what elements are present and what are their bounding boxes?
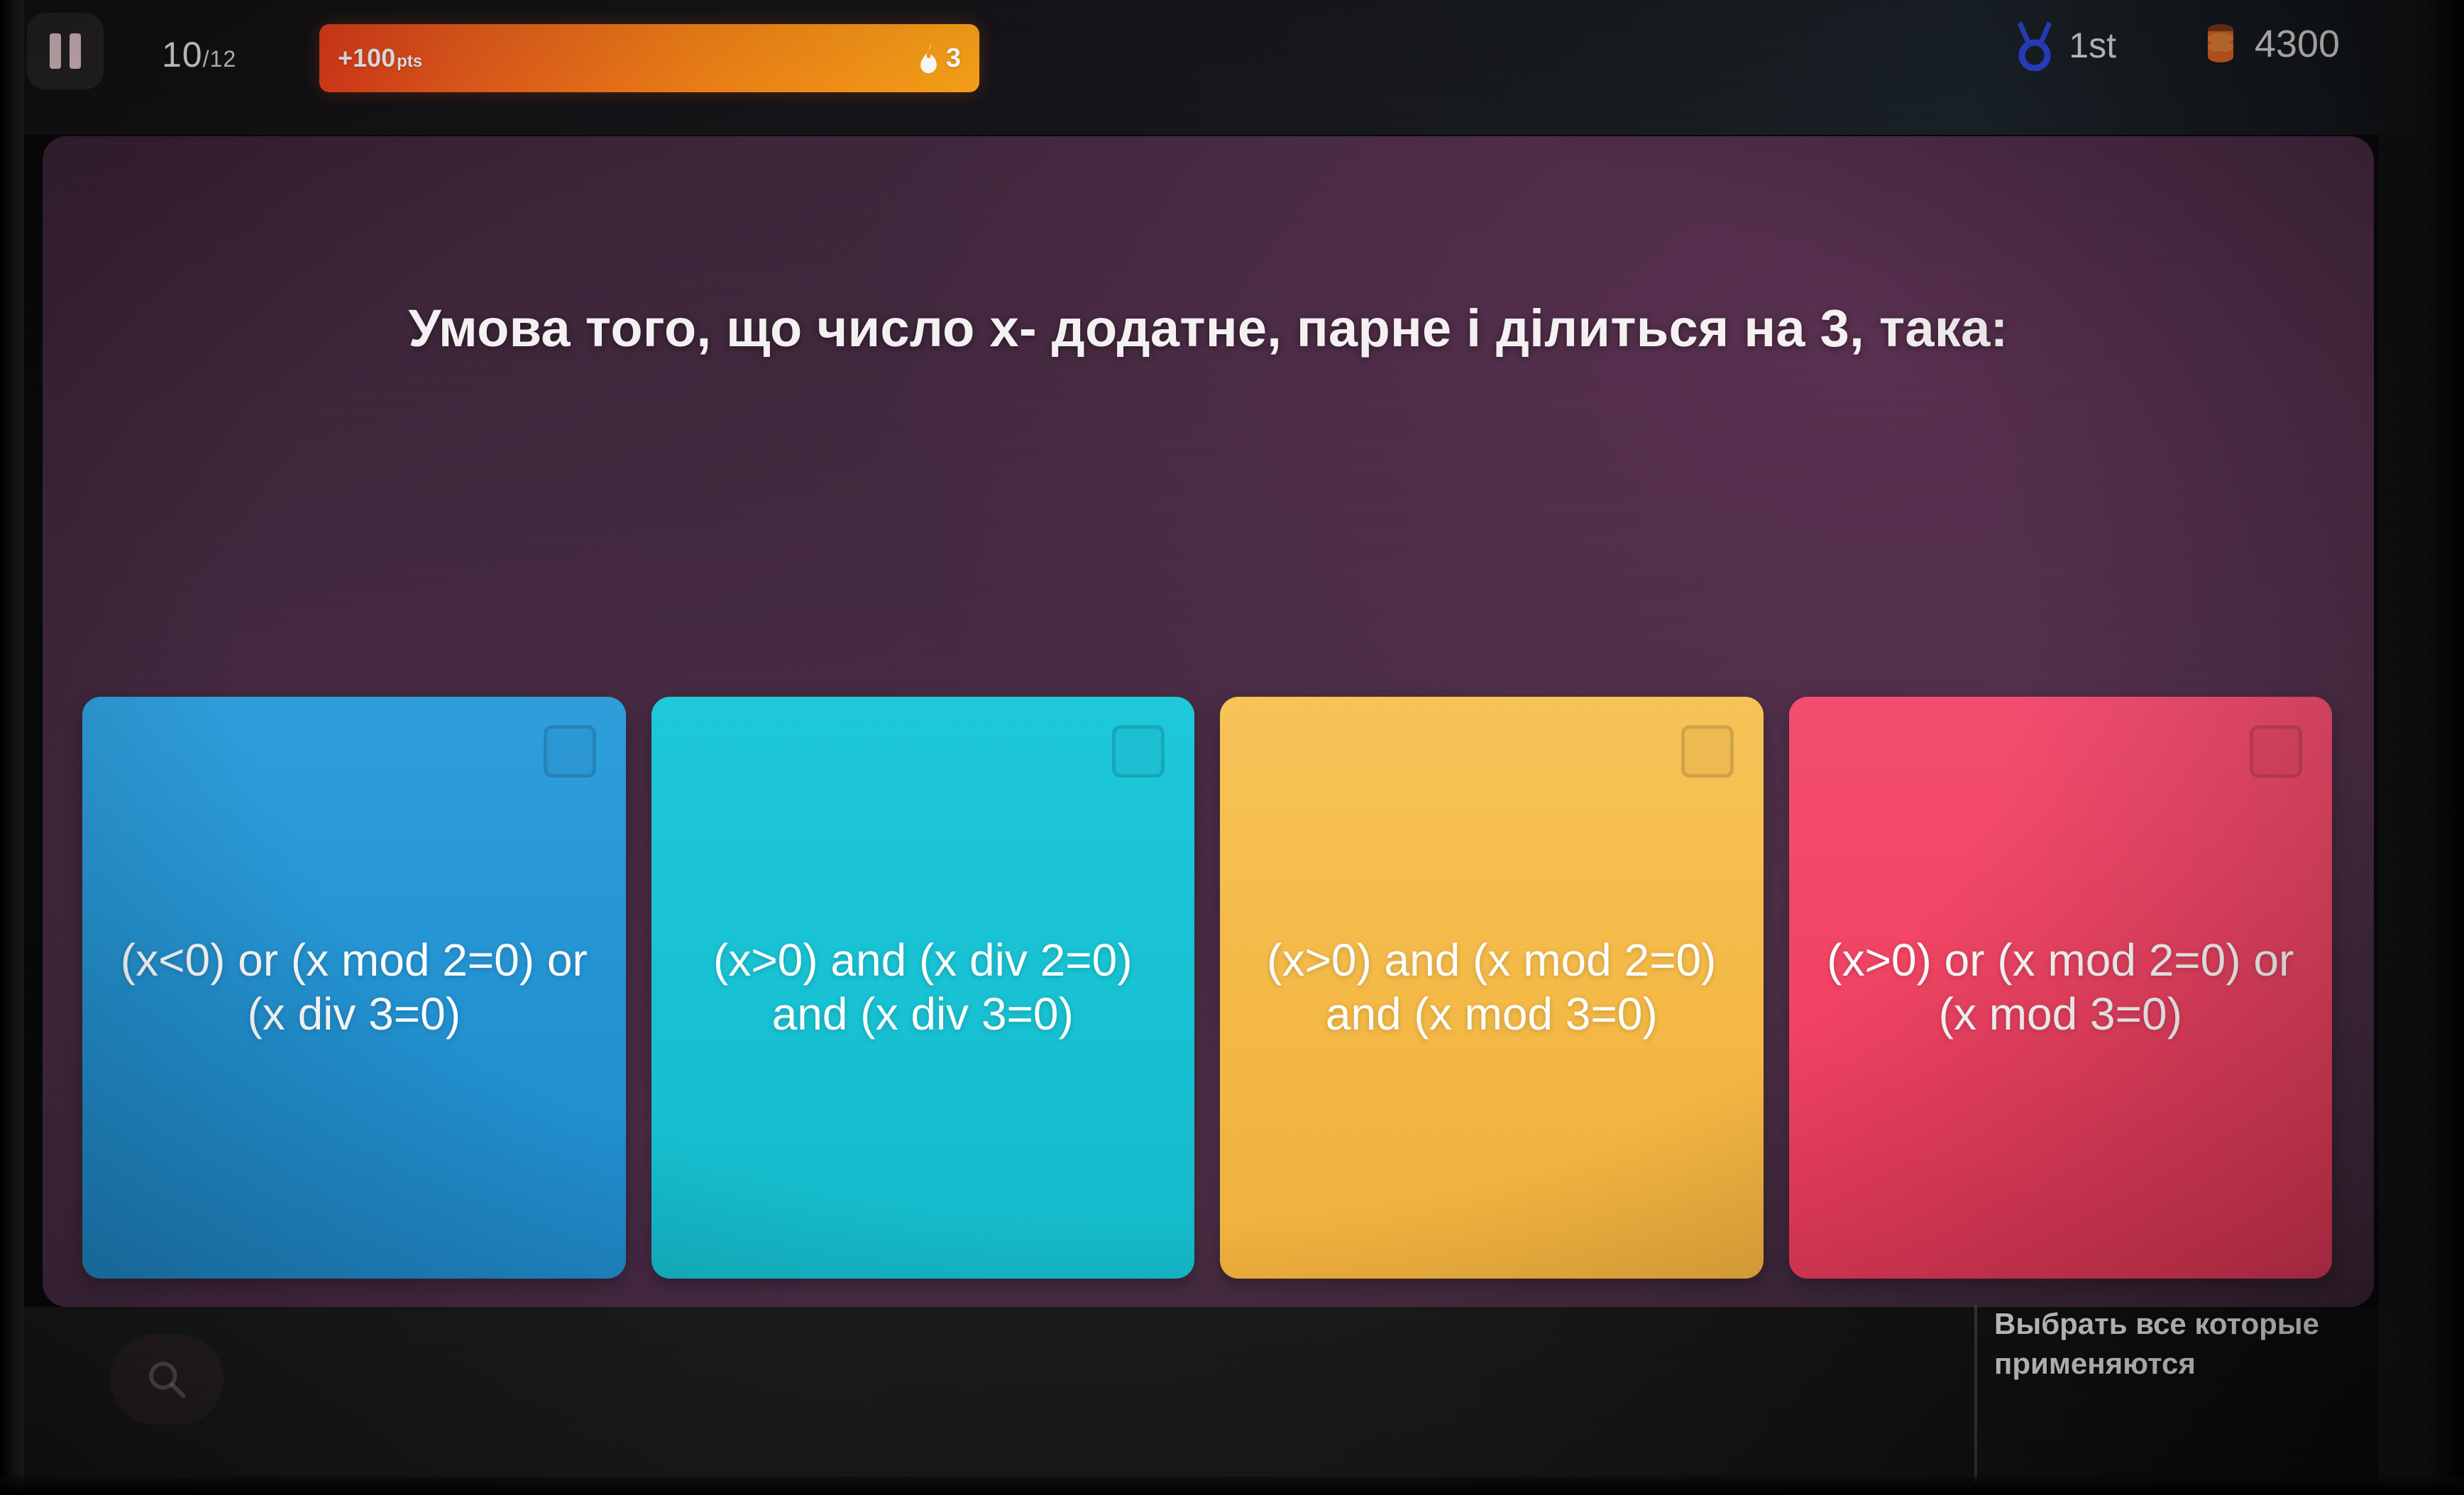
question-panel: Умова того, що число x- додатне, парне і… bbox=[43, 136, 2374, 1307]
progress-current: 10 bbox=[162, 34, 203, 75]
medal-icon bbox=[2015, 20, 2055, 71]
answer-label-1: (x<0) or (x mod 2=0) or (x div 3=0) bbox=[116, 934, 592, 1041]
streak-points-label: +100 pts bbox=[338, 43, 422, 73]
answer-checkbox-2[interactable] bbox=[1112, 725, 1165, 778]
coin-stack-icon bbox=[2202, 20, 2239, 68]
answer-option-3[interactable]: (x>0) and (x mod 2=0) and (x mod 3=0) bbox=[1220, 697, 1764, 1279]
question-text: Умова того, що число x- додатне, парне і… bbox=[43, 298, 2374, 358]
streak-points-value: +100 bbox=[338, 43, 395, 73]
streak-count-value: 3 bbox=[946, 43, 961, 74]
top-bar: 10 /12 +100 pts 3 1st bbox=[0, 0, 2464, 135]
answer-option-1[interactable]: (x<0) or (x mod 2=0) or (x div 3=0) bbox=[82, 697, 626, 1279]
answer-option-4[interactable]: (x>0) or (x mod 2=0) or (x mod 3=0) bbox=[1789, 697, 2333, 1279]
answer-checkbox-4[interactable] bbox=[2250, 725, 2302, 778]
coins-indicator: 4300 bbox=[2202, 20, 2340, 68]
coins-label: 4300 bbox=[2255, 22, 2340, 66]
question-progress: 10 /12 bbox=[162, 34, 236, 75]
pause-icon-bar-2 bbox=[70, 33, 81, 69]
answer-label-3: (x>0) and (x mod 2=0) and (x mod 3=0) bbox=[1254, 934, 1729, 1041]
pause-button[interactable] bbox=[27, 13, 104, 89]
progress-total: /12 bbox=[203, 46, 236, 72]
bezel-bottom bbox=[0, 1477, 2464, 1495]
rank-label: 1st bbox=[2069, 25, 2116, 66]
answer-options: (x<0) or (x mod 2=0) or (x div 3=0) (x>0… bbox=[82, 697, 2332, 1279]
answer-option-2[interactable]: (x>0) and (x div 2=0) and (x div 3=0) bbox=[651, 697, 1195, 1279]
answer-checkbox-3[interactable] bbox=[1681, 725, 1734, 778]
answer-checkbox-1[interactable] bbox=[544, 725, 596, 778]
quiz-screen: 10 /12 +100 pts 3 1st bbox=[0, 0, 2464, 1495]
streak-points-unit: pts bbox=[397, 52, 422, 72]
pause-icon bbox=[50, 33, 61, 69]
streak-count-group: 3 bbox=[918, 43, 961, 74]
streak-points-bar: +100 pts 3 bbox=[319, 24, 979, 92]
magnifier-icon bbox=[145, 1357, 189, 1401]
flame-icon bbox=[918, 43, 942, 74]
select-all-hint: Выбрать все которые применяются bbox=[1994, 1304, 2363, 1384]
bezel-right bbox=[2379, 0, 2464, 1495]
answer-label-4: (x>0) or (x mod 2=0) or (x mod 3=0) bbox=[1822, 934, 2298, 1041]
rank-indicator: 1st bbox=[2015, 20, 2116, 71]
answer-label-2: (x>0) and (x div 2=0) and (x div 3=0) bbox=[685, 934, 1160, 1041]
hint-divider bbox=[1974, 1306, 1977, 1483]
bezel-left bbox=[0, 0, 24, 1495]
zoom-button[interactable] bbox=[110, 1334, 224, 1425]
